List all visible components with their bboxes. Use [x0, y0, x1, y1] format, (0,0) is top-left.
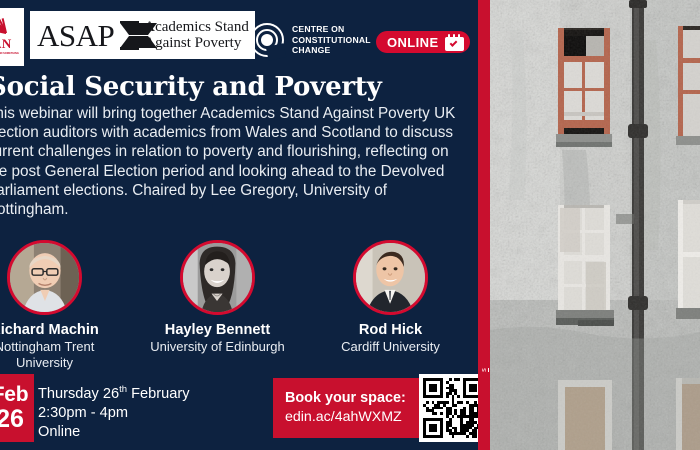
speaker-org: University of Edinburgh — [131, 339, 304, 355]
sunburst-logo-label: AN — [0, 36, 12, 52]
calendar-check-icon — [445, 34, 464, 51]
sunburst-logo-cropped: AN NICE AND SOMETHING — [0, 8, 24, 66]
event-mode: Online — [38, 423, 190, 442]
asap-acronym: ASAP — [37, 20, 114, 51]
date-badge-month: Feb — [0, 384, 28, 406]
date-badge-day: 26 — [0, 406, 24, 432]
webinar-poster: AN NICE AND SOMETHING ASAP Academics Sta… — [0, 0, 700, 450]
hourglass-icon — [120, 22, 139, 49]
speaker-org: Nottingham Trent University — [0, 339, 131, 370]
ccc-line3: CHANGE — [292, 45, 330, 55]
avatar — [7, 240, 82, 315]
online-badge-label: ONLINE — [387, 35, 439, 50]
event-month: February — [127, 386, 189, 402]
qr-code-grid — [423, 378, 478, 438]
event-description: This webinar will bring together Academi… — [0, 104, 458, 219]
content-panel: AN NICE AND SOMETHING ASAP Academics Sta… — [0, 0, 478, 450]
list-item: Richard Machin Nottingham Trent Universi… — [0, 240, 131, 370]
building-facade-photo — [490, 0, 700, 450]
qr-code[interactable] — [419, 374, 478, 442]
speaker-list: Richard Machin Nottingham Trent Universi… — [0, 240, 478, 370]
page-title: Social Security and Poverty — [0, 72, 468, 102]
concentric-circles-icon — [250, 23, 284, 57]
photo-richard-machin — [10, 243, 79, 312]
event-date: Thursday 26th February — [38, 380, 190, 404]
speaker-org: Cardiff University — [304, 339, 477, 355]
avatar — [353, 240, 428, 315]
speaker-name: Richard Machin — [0, 322, 131, 339]
photo-hayley-bennett — [183, 243, 252, 312]
photo-credit: Image: richard johnson from Getty Images — [478, 142, 490, 372]
booking-title: Book your space: — [285, 389, 406, 408]
asap-full-name: Academics Stand Against Poverty — [144, 19, 249, 52]
event-date-text: Thursday 26 — [38, 386, 119, 402]
list-item: Hayley Bennett University of Edinburgh — [131, 240, 304, 370]
ccc-line2: CONSTITUTIONAL — [292, 35, 371, 45]
event-time: 2:30pm - 4pm — [38, 404, 190, 423]
asap-logo: ASAP Academics Stand Against Poverty — [30, 11, 255, 59]
asap-name-line1: Academics Stand — [144, 19, 249, 35]
avatar — [180, 240, 255, 315]
ccc-logo: CENTRE ON CONSTITUTIONAL CHANGE — [250, 23, 371, 57]
event-date-ordinal: th — [119, 384, 127, 395]
logo-bar: AN NICE AND SOMETHING ASAP Academics Sta… — [0, 8, 478, 66]
date-badge: Feb 26 — [0, 374, 34, 442]
photo-rod-hick — [356, 243, 425, 312]
sunburst-logo-sublabel: NICE AND SOMETHING — [0, 52, 22, 55]
footer: Feb 26 Thursday 26th February 2:30pm - 4… — [0, 374, 478, 442]
ccc-line1: CENTRE ON — [292, 24, 344, 34]
booking-url[interactable]: edin.ac/4ahWXMZ — [285, 408, 406, 427]
ccc-logo-text: CENTRE ON CONSTITUTIONAL CHANGE — [292, 24, 371, 55]
list-item: Rod Hick Cardiff University — [304, 240, 477, 370]
photo-credit-text: Image: richard johnson from Getty Images — [478, 368, 490, 372]
speaker-name: Hayley Bennett — [131, 322, 304, 339]
asap-name-line2: Against Poverty — [144, 35, 241, 51]
online-badge: ONLINE — [376, 31, 470, 53]
speaker-name: Rod Hick — [304, 322, 477, 339]
event-details: Thursday 26th February 2:30pm - 4pm Onli… — [38, 380, 190, 442]
